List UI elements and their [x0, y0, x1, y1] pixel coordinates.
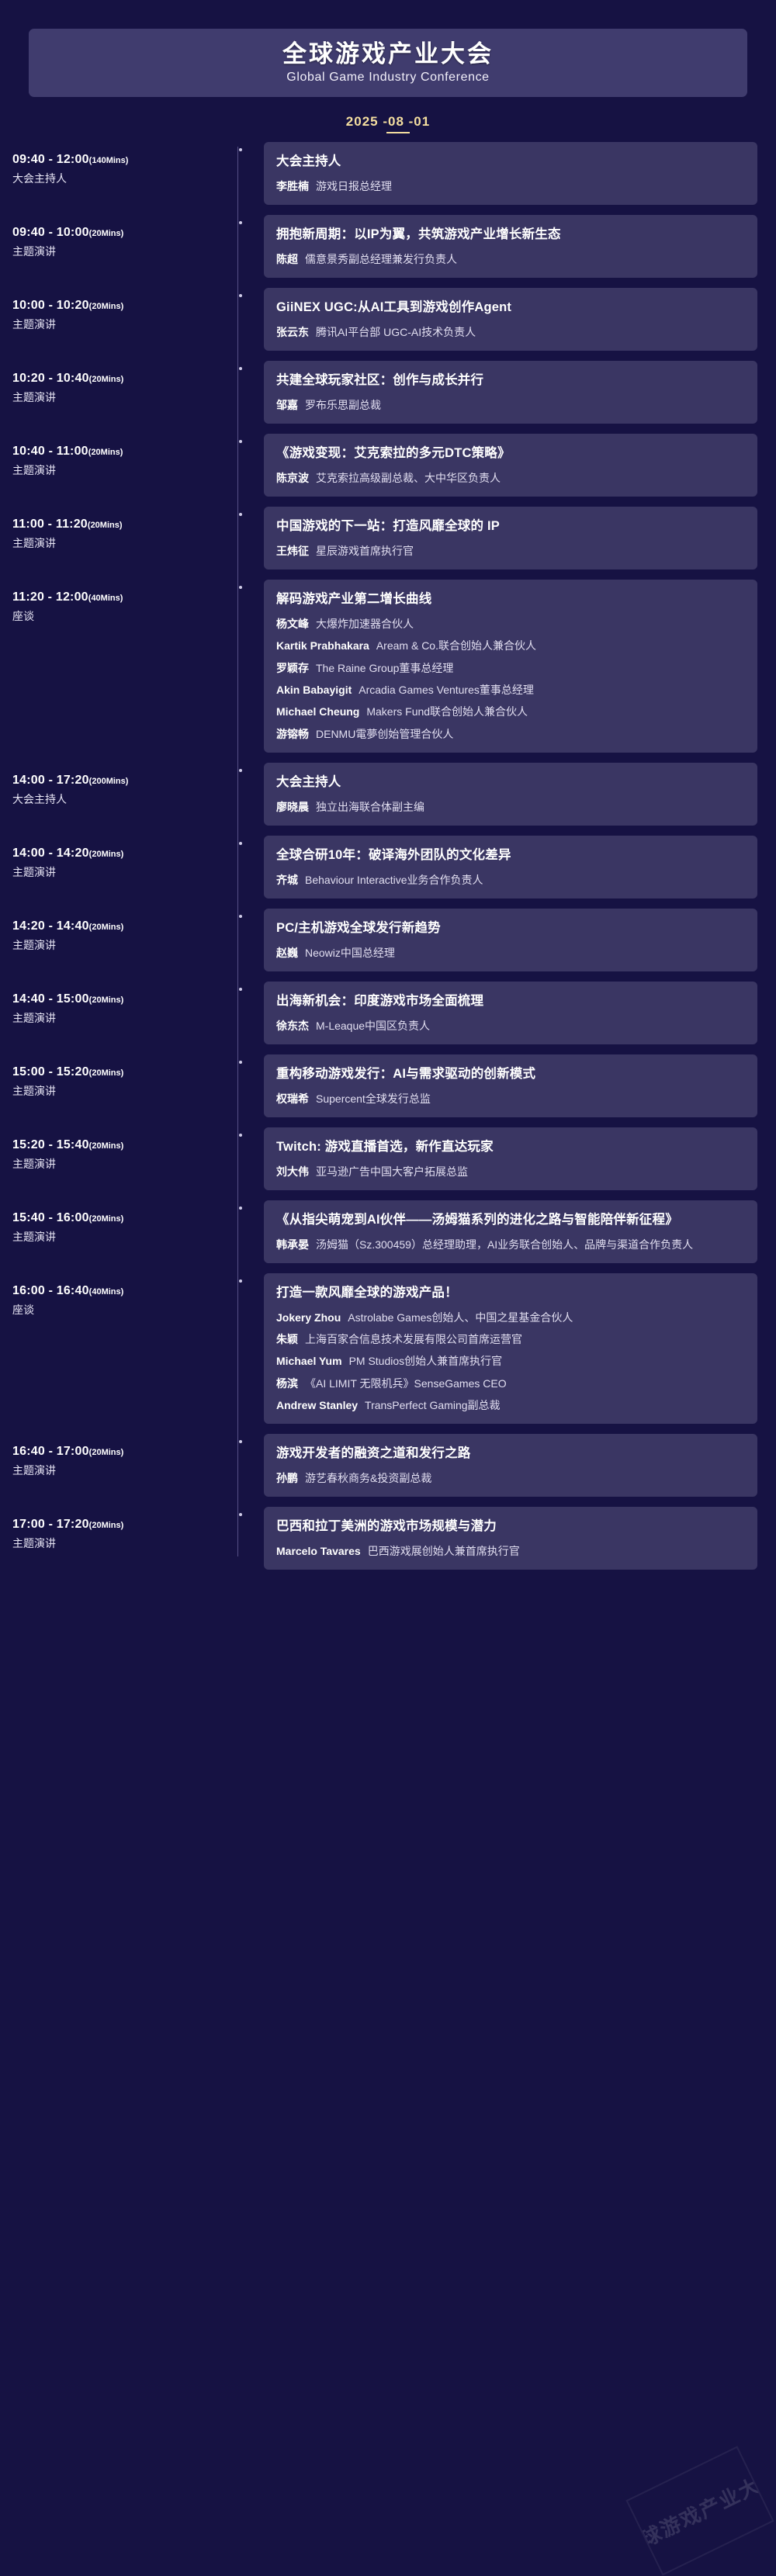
session-time-range: 16:00 - 16:40	[12, 1284, 89, 1297]
session-time-column: 14:00 - 17:20(200Mins)大会主持人	[12, 763, 237, 807]
timeline-dot-icon	[239, 294, 242, 297]
schedule-row[interactable]: 14:00 - 17:20(200Mins)大会主持人大会主持人廖晓晨独立出海联…	[12, 763, 757, 826]
speaker-role: Neowiz中国总经理	[305, 945, 395, 961]
conference-title-cn: 全球游戏产业大会	[282, 41, 494, 68]
speaker-list: Jokery ZhouAstrolabe Games创始人、中国之星基金合伙人朱…	[276, 1310, 745, 1413]
speaker-list: 陈超儒意景秀副总经理兼发行负责人	[276, 251, 745, 267]
timeline-dot-icon	[239, 148, 242, 151]
session-card[interactable]: 出海新机会：印度游戏市场全面梳理徐东杰M-Leaque中国区负责人	[264, 982, 757, 1044]
session-time-range: 10:20 - 10:40	[12, 372, 89, 385]
session-time-column: 09:40 - 10:00(20Mins)主题演讲	[12, 215, 237, 259]
speaker-name: 杨文峰	[276, 616, 316, 632]
session-title: 大会主持人	[276, 152, 745, 171]
session-title: 大会主持人	[276, 773, 745, 792]
session-card[interactable]: 共建全球玩家社区：创作与成长并行邹嘉罗布乐思副总裁	[264, 361, 757, 424]
session-type: 主题演讲	[12, 1536, 237, 1551]
speaker-name: 刘大伟	[276, 1164, 316, 1179]
session-time: 16:00 - 16:40(40Mins)	[12, 1284, 237, 1298]
session-duration: (20Mins)	[89, 229, 124, 238]
session-duration: (20Mins)	[89, 995, 124, 1005]
speaker-role: 汤姆猫（Sz.300459）总经理助理，AI业务联合创始人、品牌与渠道合作负责人	[316, 1237, 693, 1252]
timeline-dot-icon	[239, 221, 242, 224]
session-time-range: 10:00 - 10:20	[12, 299, 89, 312]
conference-date: 2025 -08 -01	[346, 114, 430, 130]
speaker-role: 《AI LIMIT 无限机兵》SenseGames CEO	[305, 1376, 507, 1391]
speaker-entry: 张云东腾讯AI平台部 UGC-AI技术负责人	[276, 324, 745, 340]
session-title: 重构移动游戏发行：AI与需求驱动的创新模式	[276, 1065, 745, 1084]
schedule-row[interactable]: 09:40 - 10:00(20Mins)主题演讲拥抱新周期：以IP为翼，共筑游…	[12, 215, 757, 278]
timeline-dot-icon	[239, 915, 242, 918]
session-type: 主题演讲	[12, 937, 237, 953]
session-time-column: 10:00 - 10:20(20Mins)主题演讲	[12, 288, 237, 332]
schedule-list: 09:40 - 12:00(140Mins)大会主持人大会主持人李胜楠游戏日报总…	[0, 142, 776, 1626]
schedule-row[interactable]: 14:00 - 14:20(20Mins)主题演讲全球合研10年：破译海外团队的…	[12, 836, 757, 898]
speaker-name: 韩承晏	[276, 1237, 316, 1252]
speaker-entry: 朱颖上海百家合信息技术发展有限公司首席运营官	[276, 1331, 745, 1347]
session-time: 14:00 - 14:20(20Mins)	[12, 847, 237, 860]
speaker-list: 徐东杰M-Leaque中国区负责人	[276, 1018, 745, 1034]
session-title: 解码游戏产业第二增长曲线	[276, 590, 745, 609]
session-time-range: 14:00 - 14:20	[12, 847, 89, 860]
speaker-name: Jokery Zhou	[276, 1310, 348, 1325]
conference-date-row: 2025 -08 -01	[0, 114, 776, 130]
speaker-entry: Jokery ZhouAstrolabe Games创始人、中国之星基金合伙人	[276, 1310, 745, 1325]
session-time: 16:40 - 17:00(20Mins)	[12, 1445, 237, 1459]
session-title: 共建全球玩家社区：创作与成长并行	[276, 371, 745, 390]
conference-banner: 全球游戏产业大会 Global Game Industry Conference	[29, 29, 747, 97]
session-type: 主题演讲	[12, 1229, 237, 1245]
session-card[interactable]: 解码游戏产业第二增长曲线杨文峰大爆炸加速器合伙人Kartik Prabhakar…	[264, 580, 757, 753]
timeline-dot-icon	[239, 513, 242, 516]
session-card[interactable]: 巴西和拉丁美洲的游戏市场规模与潜力Marcelo Tavares巴西游戏展创始人…	[264, 1507, 757, 1570]
session-title: 《从指尖萌宠到AI伙伴——汤姆猫系列的进化之路与智能陪伴新征程》	[276, 1210, 745, 1230]
speaker-role: Astrolabe Games创始人、中国之星基金合伙人	[348, 1310, 573, 1325]
session-time-column: 14:20 - 14:40(20Mins)主题演讲	[12, 909, 237, 953]
speaker-name: 王炜征	[276, 543, 316, 559]
speaker-role: 星辰游戏首席执行官	[316, 543, 414, 559]
speaker-name: Michael Cheung	[276, 704, 366, 719]
session-card[interactable]: 全球合研10年：破译海外团队的文化差异齐城Behaviour Interacti…	[264, 836, 757, 898]
schedule-row[interactable]: 17:00 - 17:20(20Mins)主题演讲巴西和拉丁美洲的游戏市场规模与…	[12, 1507, 757, 1570]
session-time: 11:00 - 11:20(20Mins)	[12, 518, 237, 531]
speaker-list: Marcelo Tavares巴西游戏展创始人兼首席执行官	[276, 1543, 745, 1559]
speaker-role: The Raine Group董事总经理	[316, 660, 453, 676]
speaker-role: 儒意景秀副总经理兼发行负责人	[305, 251, 457, 267]
session-time-column: 11:00 - 11:20(20Mins)主题演讲	[12, 507, 237, 551]
schedule-row[interactable]: 16:00 - 16:40(40Mins)座谈打造一款风靡全球的游戏产品！Jok…	[12, 1273, 757, 1424]
speaker-entry: 廖晓晨独立出海联合体副主编	[276, 799, 745, 815]
session-card[interactable]: 重构移动游戏发行：AI与需求驱动的创新模式权瑞希Supercent全球发行总监	[264, 1054, 757, 1117]
session-title: 《游戏变现：艾克索拉的多元DTC策略》	[276, 444, 745, 463]
session-time-column: 17:00 - 17:20(20Mins)主题演讲	[12, 1507, 237, 1551]
speaker-name: 陈京波	[276, 470, 316, 486]
speaker-entry: 韩承晏汤姆猫（Sz.300459）总经理助理，AI业务联合创始人、品牌与渠道合作…	[276, 1237, 745, 1252]
session-duration: (140Mins)	[89, 156, 129, 165]
speaker-entry: 罗颖存The Raine Group董事总经理	[276, 660, 745, 676]
session-time-range: 11:00 - 11:20	[12, 518, 88, 531]
speaker-entry: 孙鹏游艺春秋商务&投资副总裁	[276, 1470, 745, 1486]
speaker-entry: Akin BabayigitArcadia Games Ventures董事总经…	[276, 682, 745, 698]
session-time-column: 10:40 - 11:00(20Mins)主题演讲	[12, 434, 237, 478]
speaker-name: 徐东杰	[276, 1018, 316, 1034]
speaker-entry: 齐城Behaviour Interactive业务合作负责人	[276, 872, 745, 888]
session-card[interactable]: 《游戏变现：艾克索拉的多元DTC策略》陈京波艾克索拉高级副总裁、大中华区负责人	[264, 434, 757, 497]
speaker-entry: 徐东杰M-Leaque中国区负责人	[276, 1018, 745, 1034]
speaker-list: 孙鹏游艺春秋商务&投资副总裁	[276, 1470, 745, 1486]
schedule-row[interactable]: 11:00 - 11:20(20Mins)主题演讲中国游戏的下一站：打造风靡全球…	[12, 507, 757, 570]
speaker-role: 艾克索拉高级副总裁、大中华区负责人	[316, 470, 501, 486]
session-time-column: 16:00 - 16:40(40Mins)座谈	[12, 1273, 237, 1317]
session-title: 游戏开发者的融资之道和发行之路	[276, 1444, 745, 1463]
speaker-entry: 王炜征星辰游戏首席执行官	[276, 543, 745, 559]
speaker-list: 张云东腾讯AI平台部 UGC-AI技术负责人	[276, 324, 745, 340]
speaker-entry: Michael CheungMakers Fund联合创始人兼合伙人	[276, 704, 745, 719]
timeline-dot-icon	[239, 1513, 242, 1516]
speaker-role: Arcadia Games Ventures董事总经理	[359, 682, 534, 698]
speaker-name: 游镕畅	[276, 726, 316, 742]
speaker-role: PM Studios创始人兼首席执行官	[349, 1353, 503, 1369]
schedule-row[interactable]: 10:40 - 11:00(20Mins)主题演讲《游戏变现：艾克索拉的多元DT…	[12, 434, 757, 497]
speaker-name: Akin Babayigit	[276, 682, 359, 698]
speaker-entry: Andrew StanleyTransPerfect Gaming副总裁	[276, 1397, 745, 1413]
schedule-row[interactable]: 14:20 - 14:40(20Mins)主题演讲PC/主机游戏全球发行新趋势赵…	[12, 909, 757, 971]
session-time-range: 17:00 - 17:20	[12, 1518, 89, 1531]
session-title: 拥抱新周期：以IP为翼，共筑游戏产业增长新生态	[276, 225, 745, 244]
session-time: 10:20 - 10:40(20Mins)	[12, 372, 237, 386]
session-time: 15:40 - 16:00(20Mins)	[12, 1211, 237, 1225]
date-underline	[386, 132, 410, 133]
session-time-range: 10:40 - 11:00	[12, 445, 88, 458]
schedule-row[interactable]: 10:00 - 10:20(20Mins)主题演讲GiiNEX UGC:从AI工…	[12, 288, 757, 351]
timeline-dot-icon	[239, 988, 242, 991]
session-duration: (40Mins)	[88, 594, 123, 603]
session-duration: (20Mins)	[89, 1141, 124, 1151]
session-time: 09:40 - 10:00(20Mins)	[12, 226, 237, 240]
session-type: 主题演讲	[12, 864, 237, 880]
schedule-row[interactable]: 14:40 - 15:00(20Mins)主题演讲出海新机会：印度游戏市场全面梳…	[12, 982, 757, 1044]
speaker-name: 罗颖存	[276, 660, 316, 676]
speaker-role: 独立出海联合体副主编	[316, 799, 424, 815]
speaker-name: 赵巍	[276, 945, 305, 961]
session-time: 14:20 - 14:40(20Mins)	[12, 919, 237, 933]
speaker-entry: 杨文峰大爆炸加速器合伙人	[276, 616, 745, 632]
speaker-name: 朱颖	[276, 1331, 305, 1347]
speaker-list: 齐城Behaviour Interactive业务合作负责人	[276, 872, 745, 888]
session-time-range: 14:20 - 14:40	[12, 919, 89, 933]
speaker-entry: 刘大伟亚马逊广告中国大客户拓展总监	[276, 1164, 745, 1179]
schedule-row[interactable]: 15:40 - 16:00(20Mins)主题演讲《从指尖萌宠到AI伙伴——汤姆…	[12, 1200, 757, 1263]
session-time-range: 14:40 - 15:00	[12, 992, 89, 1006]
session-type: 大会主持人	[12, 791, 237, 807]
speaker-role: 上海百家合信息技术发展有限公司首席运营官	[305, 1331, 522, 1347]
session-time: 15:00 - 15:20(20Mins)	[12, 1065, 237, 1079]
speaker-entry: 游镕畅DENMU電夢创始管理合伙人	[276, 726, 745, 742]
speaker-list: 王炜征星辰游戏首席执行官	[276, 543, 745, 559]
speaker-role: 游戏日报总经理	[316, 178, 392, 194]
session-card[interactable]: 中国游戏的下一站：打造风靡全球的 IP王炜征星辰游戏首席执行官	[264, 507, 757, 570]
timeline-dot-icon	[239, 367, 242, 370]
session-type: 主题演讲	[12, 1463, 237, 1478]
session-duration: (20Mins)	[89, 1068, 124, 1078]
speaker-name: 张云东	[276, 324, 316, 340]
session-card[interactable]: 《从指尖萌宠到AI伙伴——汤姆猫系列的进化之路与智能陪伴新征程》韩承晏汤姆猫（S…	[264, 1200, 757, 1263]
speaker-role: Supercent全球发行总监	[316, 1091, 431, 1106]
session-time-column: 14:40 - 15:00(20Mins)主题演讲	[12, 982, 237, 1026]
session-type: 主题演讲	[12, 1083, 237, 1099]
speaker-name: Michael Yum	[276, 1353, 349, 1369]
session-card[interactable]: 拥抱新周期：以IP为翼，共筑游戏产业增长新生态陈超儒意景秀副总经理兼发行负责人	[264, 215, 757, 278]
speaker-list: 邹嘉罗布乐思副总裁	[276, 397, 745, 413]
session-title: 出海新机会：印度游戏市场全面梳理	[276, 992, 745, 1011]
speaker-list: 权瑞希Supercent全球发行总监	[276, 1091, 745, 1106]
speaker-list: 李胜楠游戏日报总经理	[276, 178, 745, 194]
speaker-name: 齐城	[276, 872, 305, 888]
speaker-name: 李胜楠	[276, 178, 316, 194]
session-card[interactable]: 大会主持人李胜楠游戏日报总经理	[264, 142, 757, 205]
speaker-list: 刘大伟亚马逊广告中国大客户拓展总监	[276, 1164, 745, 1179]
conference-title-en: Global Game Industry Conference	[286, 71, 489, 85]
session-time: 11:20 - 12:00(40Mins)	[12, 590, 237, 604]
session-time-range: 16:40 - 17:00	[12, 1445, 89, 1458]
session-title: 中国游戏的下一站：打造风靡全球的 IP	[276, 517, 745, 536]
speaker-entry: 陈京波艾克索拉高级副总裁、大中华区负责人	[276, 470, 745, 486]
timeline-dot-icon	[239, 1134, 242, 1137]
session-time: 10:40 - 11:00(20Mins)	[12, 445, 237, 459]
speaker-role: M-Leaque中国区负责人	[316, 1018, 430, 1034]
speaker-entry: Michael YumPM Studios创始人兼首席执行官	[276, 1353, 745, 1369]
speaker-entry: 李胜楠游戏日报总经理	[276, 178, 745, 194]
schedule-row[interactable]: 10:20 - 10:40(20Mins)主题演讲共建全球玩家社区：创作与成长并…	[12, 361, 757, 424]
session-time-column: 15:40 - 16:00(20Mins)主题演讲	[12, 1200, 237, 1245]
speaker-name: 廖晓晨	[276, 799, 316, 815]
session-duration: (20Mins)	[88, 521, 123, 530]
speaker-entry: 邹嘉罗布乐思副总裁	[276, 397, 745, 413]
speaker-name: Marcelo Tavares	[276, 1543, 368, 1559]
session-time-range: 15:00 - 15:20	[12, 1065, 89, 1079]
session-time: 14:40 - 15:00(20Mins)	[12, 992, 237, 1006]
watermark: 全球游戏产业大会	[625, 2446, 774, 2575]
speaker-entry: 权瑞希Supercent全球发行总监	[276, 1091, 745, 1106]
session-type: 大会主持人	[12, 171, 237, 186]
schedule-row[interactable]: 15:00 - 15:20(20Mins)主题演讲重构移动游戏发行：AI与需求驱…	[12, 1054, 757, 1117]
session-time-column: 14:00 - 14:20(20Mins)主题演讲	[12, 836, 237, 880]
session-time-column: 10:20 - 10:40(20Mins)主题演讲	[12, 361, 237, 405]
session-duration: (20Mins)	[89, 1521, 124, 1530]
session-time: 15:20 - 15:40(20Mins)	[12, 1138, 237, 1152]
session-time-range: 09:40 - 12:00	[12, 153, 89, 166]
session-card[interactable]: GiiNEX UGC:从AI工具到游戏创作Agent张云东腾讯AI平台部 UGC…	[264, 288, 757, 351]
speaker-name: 邹嘉	[276, 397, 305, 413]
schedule-row[interactable]: 11:20 - 12:00(40Mins)座谈解码游戏产业第二增长曲线杨文峰大爆…	[12, 580, 757, 753]
session-time-range: 15:40 - 16:00	[12, 1211, 89, 1224]
speaker-entry: 陈超儒意景秀副总经理兼发行负责人	[276, 251, 745, 267]
session-type: 座谈	[12, 1302, 237, 1317]
session-title: 全球合研10年：破译海外团队的文化差异	[276, 846, 745, 865]
session-time: 09:40 - 12:00(140Mins)	[12, 153, 237, 167]
speaker-role: 罗布乐思副总裁	[305, 397, 381, 413]
session-card[interactable]: Twitch: 游戏直播首选，新作直达玩家刘大伟亚马逊广告中国大客户拓展总监	[264, 1127, 757, 1190]
session-title: GiiNEX UGC:从AI工具到游戏创作Agent	[276, 298, 745, 317]
session-title: Twitch: 游戏直播首选，新作直达玩家	[276, 1137, 745, 1157]
speaker-entry: 赵巍Neowiz中国总经理	[276, 945, 745, 961]
speaker-role: Makers Fund联合创始人兼合伙人	[366, 704, 528, 719]
session-type: 主题演讲	[12, 317, 237, 332]
session-duration: (20Mins)	[89, 850, 124, 859]
speaker-list: 廖晓晨独立出海联合体副主编	[276, 799, 745, 815]
session-duration: (20Mins)	[89, 302, 124, 311]
session-time-column: 11:20 - 12:00(40Mins)座谈	[12, 580, 237, 624]
session-duration: (20Mins)	[88, 448, 123, 457]
session-duration: (20Mins)	[89, 1214, 124, 1224]
session-time: 14:00 - 17:20(200Mins)	[12, 774, 237, 788]
session-time-column: 15:20 - 15:40(20Mins)主题演讲	[12, 1127, 237, 1172]
session-time-range: 11:20 - 12:00	[12, 590, 88, 604]
session-time-range: 09:40 - 10:00	[12, 226, 89, 239]
session-duration: (20Mins)	[89, 923, 124, 932]
speaker-list: 陈京波艾克索拉高级副总裁、大中华区负责人	[276, 470, 745, 486]
session-time-column: 09:40 - 12:00(140Mins)大会主持人	[12, 142, 237, 186]
timeline-dot-icon	[239, 1279, 242, 1283]
timeline-dot-icon	[239, 769, 242, 772]
timeline-dot-icon	[239, 1207, 242, 1210]
session-card[interactable]: PC/主机游戏全球发行新趋势赵巍Neowiz中国总经理	[264, 909, 757, 971]
speaker-role: 亚马逊广告中国大客户拓展总监	[316, 1164, 468, 1179]
speaker-name: 陈超	[276, 251, 305, 267]
speaker-role: 巴西游戏展创始人兼首席执行官	[368, 1543, 520, 1559]
session-type: 座谈	[12, 608, 237, 624]
speaker-list: 赵巍Neowiz中国总经理	[276, 945, 745, 961]
speaker-role: DENMU電夢创始管理合伙人	[316, 726, 453, 742]
session-title: 打造一款风靡全球的游戏产品！	[276, 1283, 745, 1303]
speaker-entry: Kartik PrabhakaraAream & Co.联合创始人兼合伙人	[276, 638, 745, 653]
speaker-list: 韩承晏汤姆猫（Sz.300459）总经理助理，AI业务联合创始人、品牌与渠道合作…	[276, 1237, 745, 1252]
session-duration: (20Mins)	[89, 375, 124, 384]
session-duration: (200Mins)	[89, 777, 129, 786]
session-time-column: 15:00 - 15:20(20Mins)主题演讲	[12, 1054, 237, 1099]
session-time: 17:00 - 17:20(20Mins)	[12, 1518, 237, 1532]
speaker-role: Aream & Co.联合创始人兼合伙人	[376, 638, 536, 653]
session-duration: (20Mins)	[89, 1448, 124, 1457]
speaker-entry: Marcelo Tavares巴西游戏展创始人兼首席执行官	[276, 1543, 745, 1559]
session-type: 主题演讲	[12, 1010, 237, 1026]
session-type: 主题演讲	[12, 462, 237, 478]
timeline-dot-icon	[239, 1061, 242, 1064]
speaker-role: 腾讯AI平台部 UGC-AI技术负责人	[316, 324, 476, 340]
session-time-range: 15:20 - 15:40	[12, 1138, 89, 1151]
timeline-dot-icon	[239, 586, 242, 589]
speaker-role: Behaviour Interactive业务合作负责人	[305, 872, 483, 888]
speaker-name: Andrew Stanley	[276, 1397, 365, 1413]
speaker-name: 权瑞希	[276, 1091, 316, 1106]
session-type: 主题演讲	[12, 535, 237, 551]
speaker-role: TransPerfect Gaming副总裁	[365, 1397, 501, 1413]
timeline-dot-icon	[239, 1440, 242, 1443]
session-title: PC/主机游戏全球发行新趋势	[276, 919, 745, 938]
session-card[interactable]: 大会主持人廖晓晨独立出海联合体副主编	[264, 763, 757, 826]
schedule-row[interactable]: 09:40 - 12:00(140Mins)大会主持人大会主持人李胜楠游戏日报总…	[12, 142, 757, 205]
speaker-entry: 杨滨《AI LIMIT 无限机兵》SenseGames CEO	[276, 1376, 745, 1391]
session-card[interactable]: 打造一款风靡全球的游戏产品！Jokery ZhouAstrolabe Games…	[264, 1273, 757, 1424]
timeline-dot-icon	[239, 440, 242, 443]
session-type: 主题演讲	[12, 390, 237, 405]
timeline-dot-icon	[239, 842, 242, 845]
session-duration: (40Mins)	[89, 1287, 124, 1297]
speaker-name: 孙鹏	[276, 1470, 305, 1486]
speaker-name: Kartik Prabhakara	[276, 638, 376, 653]
session-time-column: 16:40 - 17:00(20Mins)主题演讲	[12, 1434, 237, 1478]
session-time-range: 14:00 - 17:20	[12, 774, 89, 787]
session-time: 10:00 - 10:20(20Mins)	[12, 299, 237, 313]
session-title: 巴西和拉丁美洲的游戏市场规模与潜力	[276, 1517, 745, 1536]
session-type: 主题演讲	[12, 244, 237, 259]
speaker-name: 杨滨	[276, 1376, 305, 1391]
speaker-list: 杨文峰大爆炸加速器合伙人Kartik PrabhakaraAream & Co.…	[276, 616, 745, 742]
speaker-role: 大爆炸加速器合伙人	[316, 616, 414, 632]
schedule-row[interactable]: 15:20 - 15:40(20Mins)主题演讲Twitch: 游戏直播首选，…	[12, 1127, 757, 1190]
speaker-role: 游艺春秋商务&投资副总裁	[305, 1470, 431, 1486]
session-type: 主题演讲	[12, 1156, 237, 1172]
schedule-row[interactable]: 16:40 - 17:00(20Mins)主题演讲游戏开发者的融资之道和发行之路…	[12, 1434, 757, 1497]
conference-date-label: 2025 -08 -01	[346, 114, 430, 129]
session-card[interactable]: 游戏开发者的融资之道和发行之路孙鹏游艺春秋商务&投资副总裁	[264, 1434, 757, 1497]
